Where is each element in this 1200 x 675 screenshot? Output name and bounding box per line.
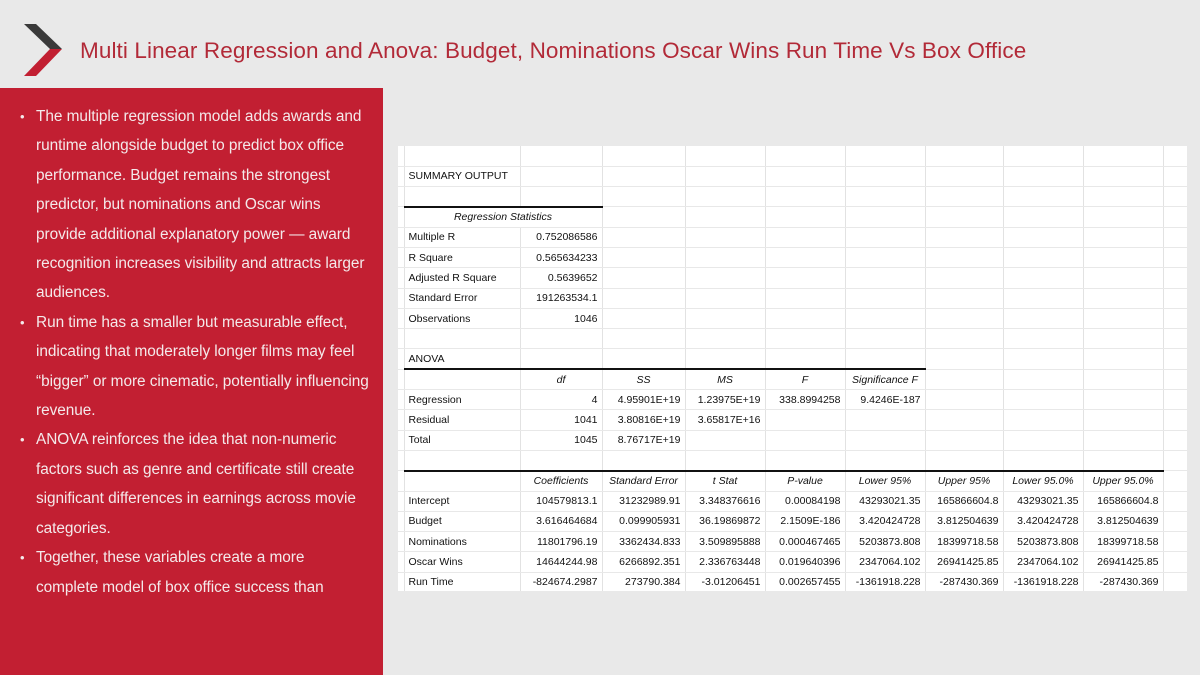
coef-standard-error: 6266892.351 <box>602 552 685 572</box>
anova-heading: ANOVA <box>404 349 520 369</box>
table-row: Run Time -824674.2987 273790.384 -3.0120… <box>398 572 1187 591</box>
table-row: Intercept 104579813.1 31232989.91 3.3483… <box>398 491 1187 511</box>
anova-sig-f <box>845 430 925 450</box>
list-item: Run time has a smaller but measurable ef… <box>18 308 369 426</box>
table-row: Oscar Wins 14644244.98 6266892.351 2.336… <box>398 552 1187 572</box>
coef-row-label: Budget <box>404 511 520 531</box>
anova-df: 1041 <box>520 410 602 430</box>
coef-lower-95-0: -1361918.228 <box>1003 572 1083 591</box>
coef-p-value: 2.1509E-186 <box>765 511 845 531</box>
table-row <box>398 187 1187 207</box>
stat-label: Multiple R <box>404 227 520 247</box>
bullet-list: The multiple regression model adds award… <box>18 102 369 602</box>
table-row: Multiple R 0.752086586 <box>398 227 1187 247</box>
anova-ss: 3.80816E+19 <box>602 410 685 430</box>
coef-upper-95: 18399718.58 <box>925 532 1003 552</box>
coef-lower-95: 2347064.102 <box>845 552 925 572</box>
coef-lower-95-0: 3.420424728 <box>1003 511 1083 531</box>
coef-lower-95-0: 43293021.35 <box>1003 491 1083 511</box>
coef-t-stat: 36.19869872 <box>685 511 765 531</box>
coef-col-header: Coefficients <box>520 471 602 491</box>
coef-upper-95-0: 3.812504639 <box>1083 511 1163 531</box>
anova-col-header: SS <box>602 369 685 389</box>
table-row: Nominations 11801796.19 3362434.833 3.50… <box>398 532 1187 552</box>
coef-col-header: t Stat <box>685 471 765 491</box>
table-row: Standard Error 191263534.1 <box>398 288 1187 308</box>
coef-col-header: P-value <box>765 471 845 491</box>
coef-p-value: 0.019640396 <box>765 552 845 572</box>
list-item: ANOVA reinforces the idea that non-numer… <box>18 425 369 543</box>
bullet-text-panel: The multiple regression model adds award… <box>0 88 383 675</box>
coef-row-label: Run Time <box>404 572 520 591</box>
coef-value: 104579813.1 <box>520 491 602 511</box>
anova-sig-f: 9.4246E-187 <box>845 390 925 410</box>
table-row <box>398 146 1187 166</box>
coef-upper-95: -287430.369 <box>925 572 1003 591</box>
table-row: Coefficients Standard Error t Stat P-val… <box>398 471 1187 491</box>
stat-label: Adjusted R Square <box>404 268 520 288</box>
coef-row-label: Nominations <box>404 532 520 552</box>
table-row: Regression Statistics <box>398 207 1187 227</box>
coef-lower-95: 5203873.808 <box>845 532 925 552</box>
anova-df: 1045 <box>520 430 602 450</box>
coef-col-header: Standard Error <box>602 471 685 491</box>
anova-row-label: Regression <box>404 390 520 410</box>
coef-upper-95-0: 18399718.58 <box>1083 532 1163 552</box>
stat-label: Standard Error <box>404 288 520 308</box>
coef-row-label: Intercept <box>404 491 520 511</box>
coef-standard-error: 273790.384 <box>602 572 685 591</box>
anova-ms <box>685 430 765 450</box>
coef-lower-95: 43293021.35 <box>845 491 925 511</box>
coef-lower-95-0: 2347064.102 <box>1003 552 1083 572</box>
anova-sig-f <box>845 410 925 430</box>
table-row: Observations 1046 <box>398 308 1187 328</box>
coef-value: -824674.2987 <box>520 572 602 591</box>
table-row <box>398 450 1187 470</box>
anova-ms: 1.23975E+19 <box>685 390 765 410</box>
stat-value: 0.5639652 <box>520 268 602 288</box>
coef-t-stat: 3.509895888 <box>685 532 765 552</box>
anova-col-header <box>404 369 520 389</box>
anova-row-label: Total <box>404 430 520 450</box>
anova-ss: 4.95901E+19 <box>602 390 685 410</box>
spreadsheet-table: SUMMARY OUTPUT Regression Statistics Mul… <box>398 146 1187 591</box>
coef-standard-error: 31232989.91 <box>602 491 685 511</box>
table-row: Adjusted R Square 0.5639652 <box>398 268 1187 288</box>
coef-p-value: 0.00084198 <box>765 491 845 511</box>
coef-lower-95: 3.420424728 <box>845 511 925 531</box>
stat-value: 1046 <box>520 308 602 328</box>
coef-p-value: 0.002657455 <box>765 572 845 591</box>
coef-lower-95-0: 5203873.808 <box>1003 532 1083 552</box>
coef-upper-95: 3.812504639 <box>925 511 1003 531</box>
coef-value: 11801796.19 <box>520 532 602 552</box>
table-row: Residual 1041 3.80816E+19 3.65817E+16 <box>398 410 1187 430</box>
table-row: ANOVA <box>398 349 1187 369</box>
anova-f: 338.8994258 <box>765 390 845 410</box>
coef-lower-95: -1361918.228 <box>845 572 925 591</box>
stat-value: 0.752086586 <box>520 227 602 247</box>
anova-f <box>765 430 845 450</box>
coef-col-header: Lower 95.0% <box>1003 471 1083 491</box>
coef-col-header <box>404 471 520 491</box>
coef-upper-95-0: -287430.369 <box>1083 572 1163 591</box>
coef-upper-95: 26941425.85 <box>925 552 1003 572</box>
coef-upper-95: 165866604.8 <box>925 491 1003 511</box>
coef-upper-95-0: 26941425.85 <box>1083 552 1163 572</box>
coef-col-header: Lower 95% <box>845 471 925 491</box>
stat-label: Observations <box>404 308 520 328</box>
coef-col-header: Upper 95% <box>925 471 1003 491</box>
table-row: R Square 0.565634233 <box>398 247 1187 267</box>
anova-ss: 8.76717E+19 <box>602 430 685 450</box>
anova-col-header: Significance F <box>845 369 925 389</box>
coef-value: 14644244.98 <box>520 552 602 572</box>
coef-value: 3.616464684 <box>520 511 602 531</box>
coef-row-label: Oscar Wins <box>404 552 520 572</box>
anova-col-header: F <box>765 369 845 389</box>
coef-standard-error: 0.099905931 <box>602 511 685 531</box>
list-item: The multiple regression model adds award… <box>18 102 369 308</box>
anova-ms: 3.65817E+16 <box>685 410 765 430</box>
coef-t-stat: -3.01206451 <box>685 572 765 591</box>
anova-col-header: MS <box>685 369 765 389</box>
anova-row-label: Residual <box>404 410 520 430</box>
coef-p-value: 0.000467465 <box>765 532 845 552</box>
table-row: Total 1045 8.76717E+19 <box>398 430 1187 450</box>
stat-value: 0.565634233 <box>520 247 602 267</box>
regression-statistics-heading: Regression Statistics <box>404 207 602 227</box>
table-row <box>398 329 1187 349</box>
stat-value: 191263534.1 <box>520 288 602 308</box>
coef-col-header: Upper 95.0% <box>1083 471 1163 491</box>
list-item: Together, these variables create a more … <box>18 543 369 602</box>
page-title: Multi Linear Regression and Anova: Budge… <box>80 38 1026 64</box>
slide-header: Multi Linear Regression and Anova: Budge… <box>0 0 1200 88</box>
coef-upper-95-0: 165866604.8 <box>1083 491 1163 511</box>
summary-output-label: SUMMARY OUTPUT <box>404 166 520 186</box>
anova-col-header: df <box>520 369 602 389</box>
table-row: df SS MS F Significance F <box>398 369 1187 389</box>
chevron-right-icon <box>22 22 68 78</box>
anova-f <box>765 410 845 430</box>
coef-standard-error: 3362434.833 <box>602 532 685 552</box>
anova-df: 4 <box>520 390 602 410</box>
coef-t-stat: 3.348376616 <box>685 491 765 511</box>
table-row: Regression 4 4.95901E+19 1.23975E+19 338… <box>398 390 1187 410</box>
table-row: SUMMARY OUTPUT <box>398 166 1187 186</box>
coef-t-stat: 2.336763448 <box>685 552 765 572</box>
regression-output-spreadsheet: SUMMARY OUTPUT Regression Statistics Mul… <box>398 146 1187 591</box>
table-row: Budget 3.616464684 0.099905931 36.198698… <box>398 511 1187 531</box>
stat-label: R Square <box>404 247 520 267</box>
